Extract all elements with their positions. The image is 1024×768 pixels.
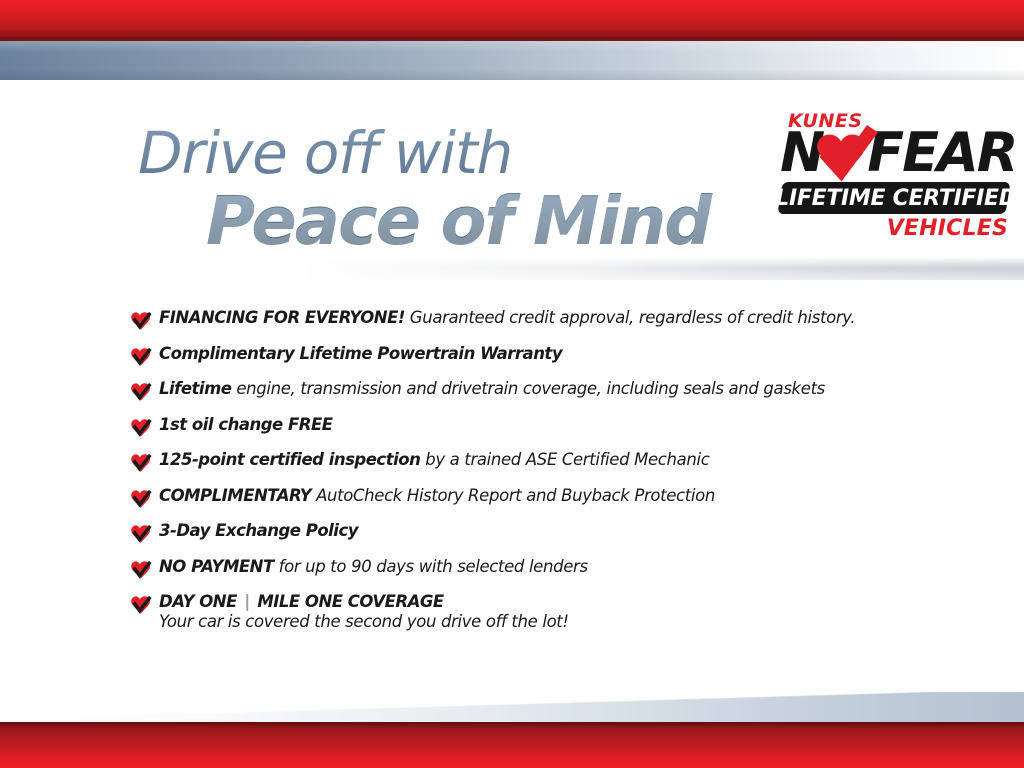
feature-item: 125-point certified inspection by a trai… bbox=[130, 450, 930, 473]
feature-text: NO PAYMENT for up to 90 days with select… bbox=[159, 557, 588, 576]
feature-item: Lifetime engine, transmission and drivet… bbox=[130, 379, 930, 402]
kunes-no-fear-logo: KUNES NFEAR LIFETIME CERTIFIED VEHICLES bbox=[778, 110, 1012, 246]
promo-poster: Drive off with Peace of Mind KUNES NFEAR… bbox=[0, 0, 1024, 768]
feature-text: 1st oil change FREE bbox=[159, 415, 333, 434]
feature-text-block: Lifetime engine, transmission and drivet… bbox=[159, 379, 825, 398]
feature-text-block: Complimentary Lifetime Powertrain Warran… bbox=[159, 344, 562, 363]
feature-text: COMPLIMENTARY AutoCheck History Report a… bbox=[159, 486, 715, 505]
feature-item: NO PAYMENT for up to 90 days with select… bbox=[130, 557, 930, 580]
feature-text-block: FINANCING FOR EVERYONE! Guaranteed credi… bbox=[159, 308, 855, 327]
heart-check-bullet-icon bbox=[130, 347, 152, 367]
feature-item: 3-Day Exchange Policy bbox=[130, 521, 930, 544]
feature-text: 125-point certified inspection by a trai… bbox=[159, 450, 709, 469]
feature-text-block: 1st oil change FREE bbox=[159, 415, 333, 434]
bottom-red-band bbox=[0, 722, 1024, 768]
feature-text-bold: 1st oil change FREE bbox=[159, 415, 333, 434]
feature-text: FINANCING FOR EVERYONE! Guaranteed credi… bbox=[159, 308, 855, 327]
feature-text-block: NO PAYMENT for up to 90 days with select… bbox=[159, 557, 588, 576]
feature-item: DAY ONE | MILE ONE COVERAGEYour car is c… bbox=[130, 592, 930, 634]
logo-vehicles-text: VEHICLES bbox=[887, 216, 1008, 241]
feature-text-separator: | bbox=[237, 592, 257, 611]
heart-check-bullet-icon bbox=[130, 311, 152, 331]
feature-text: 3-Day Exchange Policy bbox=[159, 521, 358, 540]
feature-item: FINANCING FOR EVERYONE! Guaranteed credi… bbox=[130, 308, 930, 331]
feature-text-bold: FINANCING FOR EVERYONE! bbox=[159, 308, 405, 327]
logo-lifetime-certified-text: LIFETIME CERTIFIED bbox=[786, 185, 1006, 211]
heart-check-bullet-icon bbox=[130, 524, 152, 544]
header-divider-highlight bbox=[300, 258, 1024, 280]
logo-word-fear: FEAR bbox=[867, 121, 1016, 184]
headline-line-2: Peace of Mind bbox=[206, 186, 718, 256]
feature-text-regular: by a trained ASE Certified Mechanic bbox=[420, 450, 709, 469]
heart-check-mark-icon bbox=[808, 124, 878, 186]
heart-check-bullet-icon bbox=[130, 453, 152, 473]
feature-text-block: DAY ONE | MILE ONE COVERAGEYour car is c… bbox=[159, 592, 569, 634]
heart-check-bullet-icon bbox=[130, 418, 152, 438]
heart-check-bullet-icon bbox=[130, 489, 152, 509]
feature-text-bold: Complimentary Lifetime Powertrain Warran… bbox=[159, 344, 562, 363]
bottom-gray-band-slant bbox=[0, 692, 1024, 723]
feature-item: Complimentary Lifetime Powertrain Warran… bbox=[130, 344, 930, 367]
feature-text-bold: Lifetime bbox=[159, 379, 231, 398]
headline-block: Drive off with Peace of Mind bbox=[138, 124, 718, 256]
heart-check-bullet-icon bbox=[130, 382, 152, 402]
bottom-red-band-shadow bbox=[0, 722, 1024, 728]
top-red-band bbox=[0, 0, 1024, 41]
feature-text: DAY ONE | MILE ONE COVERAGE bbox=[159, 592, 569, 611]
headline-line-1: Drive off with bbox=[138, 124, 718, 182]
feature-text-regular: AutoCheck History Report and Buyback Pro… bbox=[311, 486, 715, 505]
feature-text-regular: engine, transmission and drivetrain cove… bbox=[231, 379, 824, 398]
feature-text-bold-secondary: MILE ONE COVERAGE bbox=[257, 592, 443, 611]
feature-text-bold: COMPLIMENTARY bbox=[159, 486, 311, 505]
feature-item: 1st oil change FREE bbox=[130, 415, 930, 438]
feature-item: COMPLIMENTARY AutoCheck History Report a… bbox=[130, 486, 930, 509]
feature-text-bold: 3-Day Exchange Policy bbox=[159, 521, 358, 540]
feature-text: Complimentary Lifetime Powertrain Warran… bbox=[159, 344, 562, 363]
heart-check-bullet-icon bbox=[130, 595, 152, 615]
feature-text-bold: 125-point certified inspection bbox=[159, 450, 420, 469]
features-list: FINANCING FOR EVERYONE! Guaranteed credi… bbox=[130, 308, 930, 646]
heart-check-bullet-icon bbox=[130, 560, 152, 580]
feature-text-bold: NO PAYMENT bbox=[159, 557, 274, 576]
feature-text-regular: Guaranteed credit approval, regardless o… bbox=[405, 308, 855, 327]
top-gray-band-highlight bbox=[0, 41, 1024, 80]
feature-text: Lifetime engine, transmission and drivet… bbox=[159, 379, 825, 398]
feature-text-block: COMPLIMENTARY AutoCheck History Report a… bbox=[159, 486, 715, 505]
feature-text-block: 125-point certified inspection by a trai… bbox=[159, 450, 709, 469]
feature-text-bold: DAY ONE bbox=[159, 592, 237, 611]
feature-text-regular: for up to 90 days with selected lenders bbox=[274, 557, 588, 576]
feature-text-block: 3-Day Exchange Policy bbox=[159, 521, 358, 540]
feature-subtext: Your car is covered the second you drive… bbox=[159, 611, 569, 633]
